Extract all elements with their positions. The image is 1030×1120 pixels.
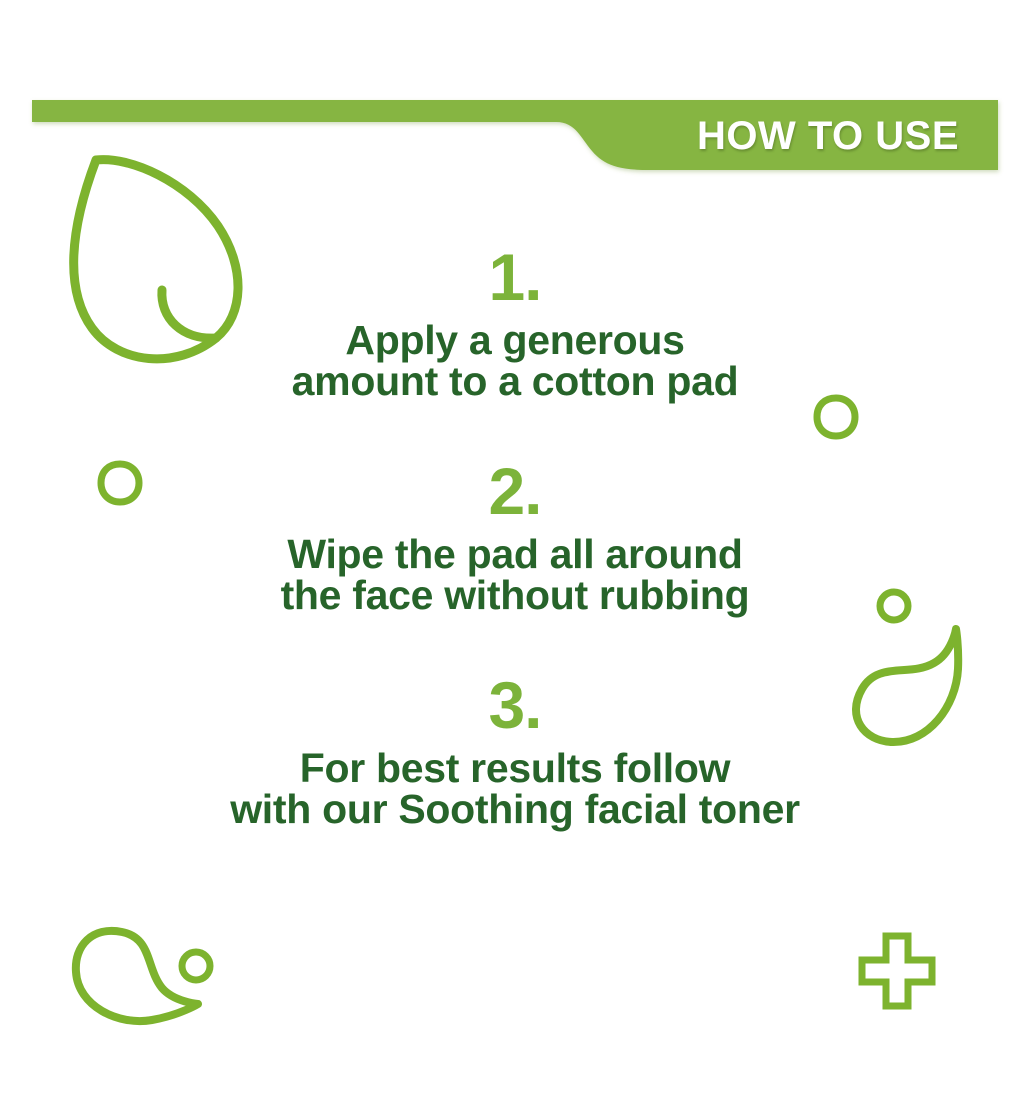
step-text-2-line-2: the face without rubbing bbox=[0, 575, 1030, 616]
step-item-3: 3. For best results follow with our Soot… bbox=[0, 668, 1030, 830]
header-banner: HOW TO USE bbox=[0, 90, 1030, 180]
steps-list: 1. Apply a generous amount to a cotton p… bbox=[0, 240, 1030, 882]
page-title: HOW TO USE bbox=[658, 112, 998, 160]
plus-outline-icon bbox=[856, 930, 938, 1012]
step-text-3-line-1: For best results follow bbox=[0, 748, 1030, 789]
leaf-dot-path bbox=[182, 952, 210, 980]
step-number-3: 3. bbox=[0, 668, 1030, 742]
step-text-1-line-1: Apply a generous bbox=[0, 320, 1030, 361]
step-number-2: 2. bbox=[0, 454, 1030, 528]
step-text-2: Wipe the pad all around the face without… bbox=[0, 534, 1030, 616]
step-item-2: 2. Wipe the pad all around the face with… bbox=[0, 454, 1030, 616]
how-to-use-poster: HOW TO USE 1. Apply a generous amount to… bbox=[0, 0, 1030, 1120]
step-text-3: For best results follow with our Soothin… bbox=[0, 748, 1030, 830]
leaf-body-path bbox=[76, 931, 198, 1021]
step-text-1: Apply a generous amount to a cotton pad bbox=[0, 320, 1030, 402]
step-text-1-line-2: amount to a cotton pad bbox=[0, 361, 1030, 402]
step-text-3-line-2: with our Soothing facial toner bbox=[0, 789, 1030, 830]
step-text-2-line-1: Wipe the pad all around bbox=[0, 534, 1030, 575]
leaf-with-dot-icon bbox=[68, 922, 228, 1032]
step-item-1: 1. Apply a generous amount to a cotton p… bbox=[0, 240, 1030, 402]
step-number-1: 1. bbox=[0, 240, 1030, 314]
plus-path bbox=[862, 936, 932, 1006]
